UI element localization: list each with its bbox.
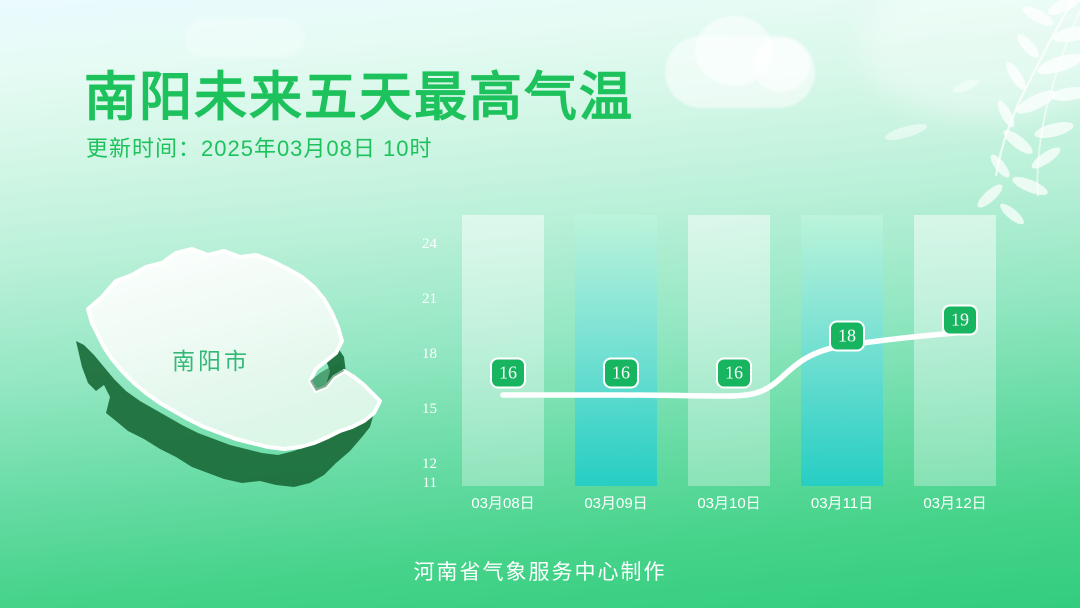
x-axis-label: 03月10日 [674,492,784,513]
willow-branch-decoration [870,0,1080,240]
weather-infographic: 南阳未来五天最高气温 更新时间：2025年03月08日 10时 南阳市 24 2… [0,0,1080,608]
update-time-text: 更新时间：2025年03月08日 10时 [86,131,432,163]
map-region-label: 南阳市 [172,342,250,376]
x-axis-label: 03月11日 [787,492,897,513]
temperature-badge: 16 [716,358,752,389]
cloud-icon [752,38,810,92]
x-axis-label: 03月09日 [561,492,671,513]
cloud-icon [185,18,305,58]
x-axis-label: 03月08日 [448,492,558,513]
temperature-badge: 16 [603,358,639,389]
footer-credit: 河南省气象服务中心制作 [0,556,1080,586]
temperature-badge: 16 [490,358,526,389]
x-axis-label: 03月12日 [900,492,1010,513]
temperature-badge: 18 [829,321,865,352]
temperature-chart: 24 21 18 15 12 11 16 16 16 18 19 03月08日 … [415,215,1035,515]
temperature-badge: 19 [942,305,978,336]
page-title: 南阳未来五天最高气温 [84,55,634,131]
